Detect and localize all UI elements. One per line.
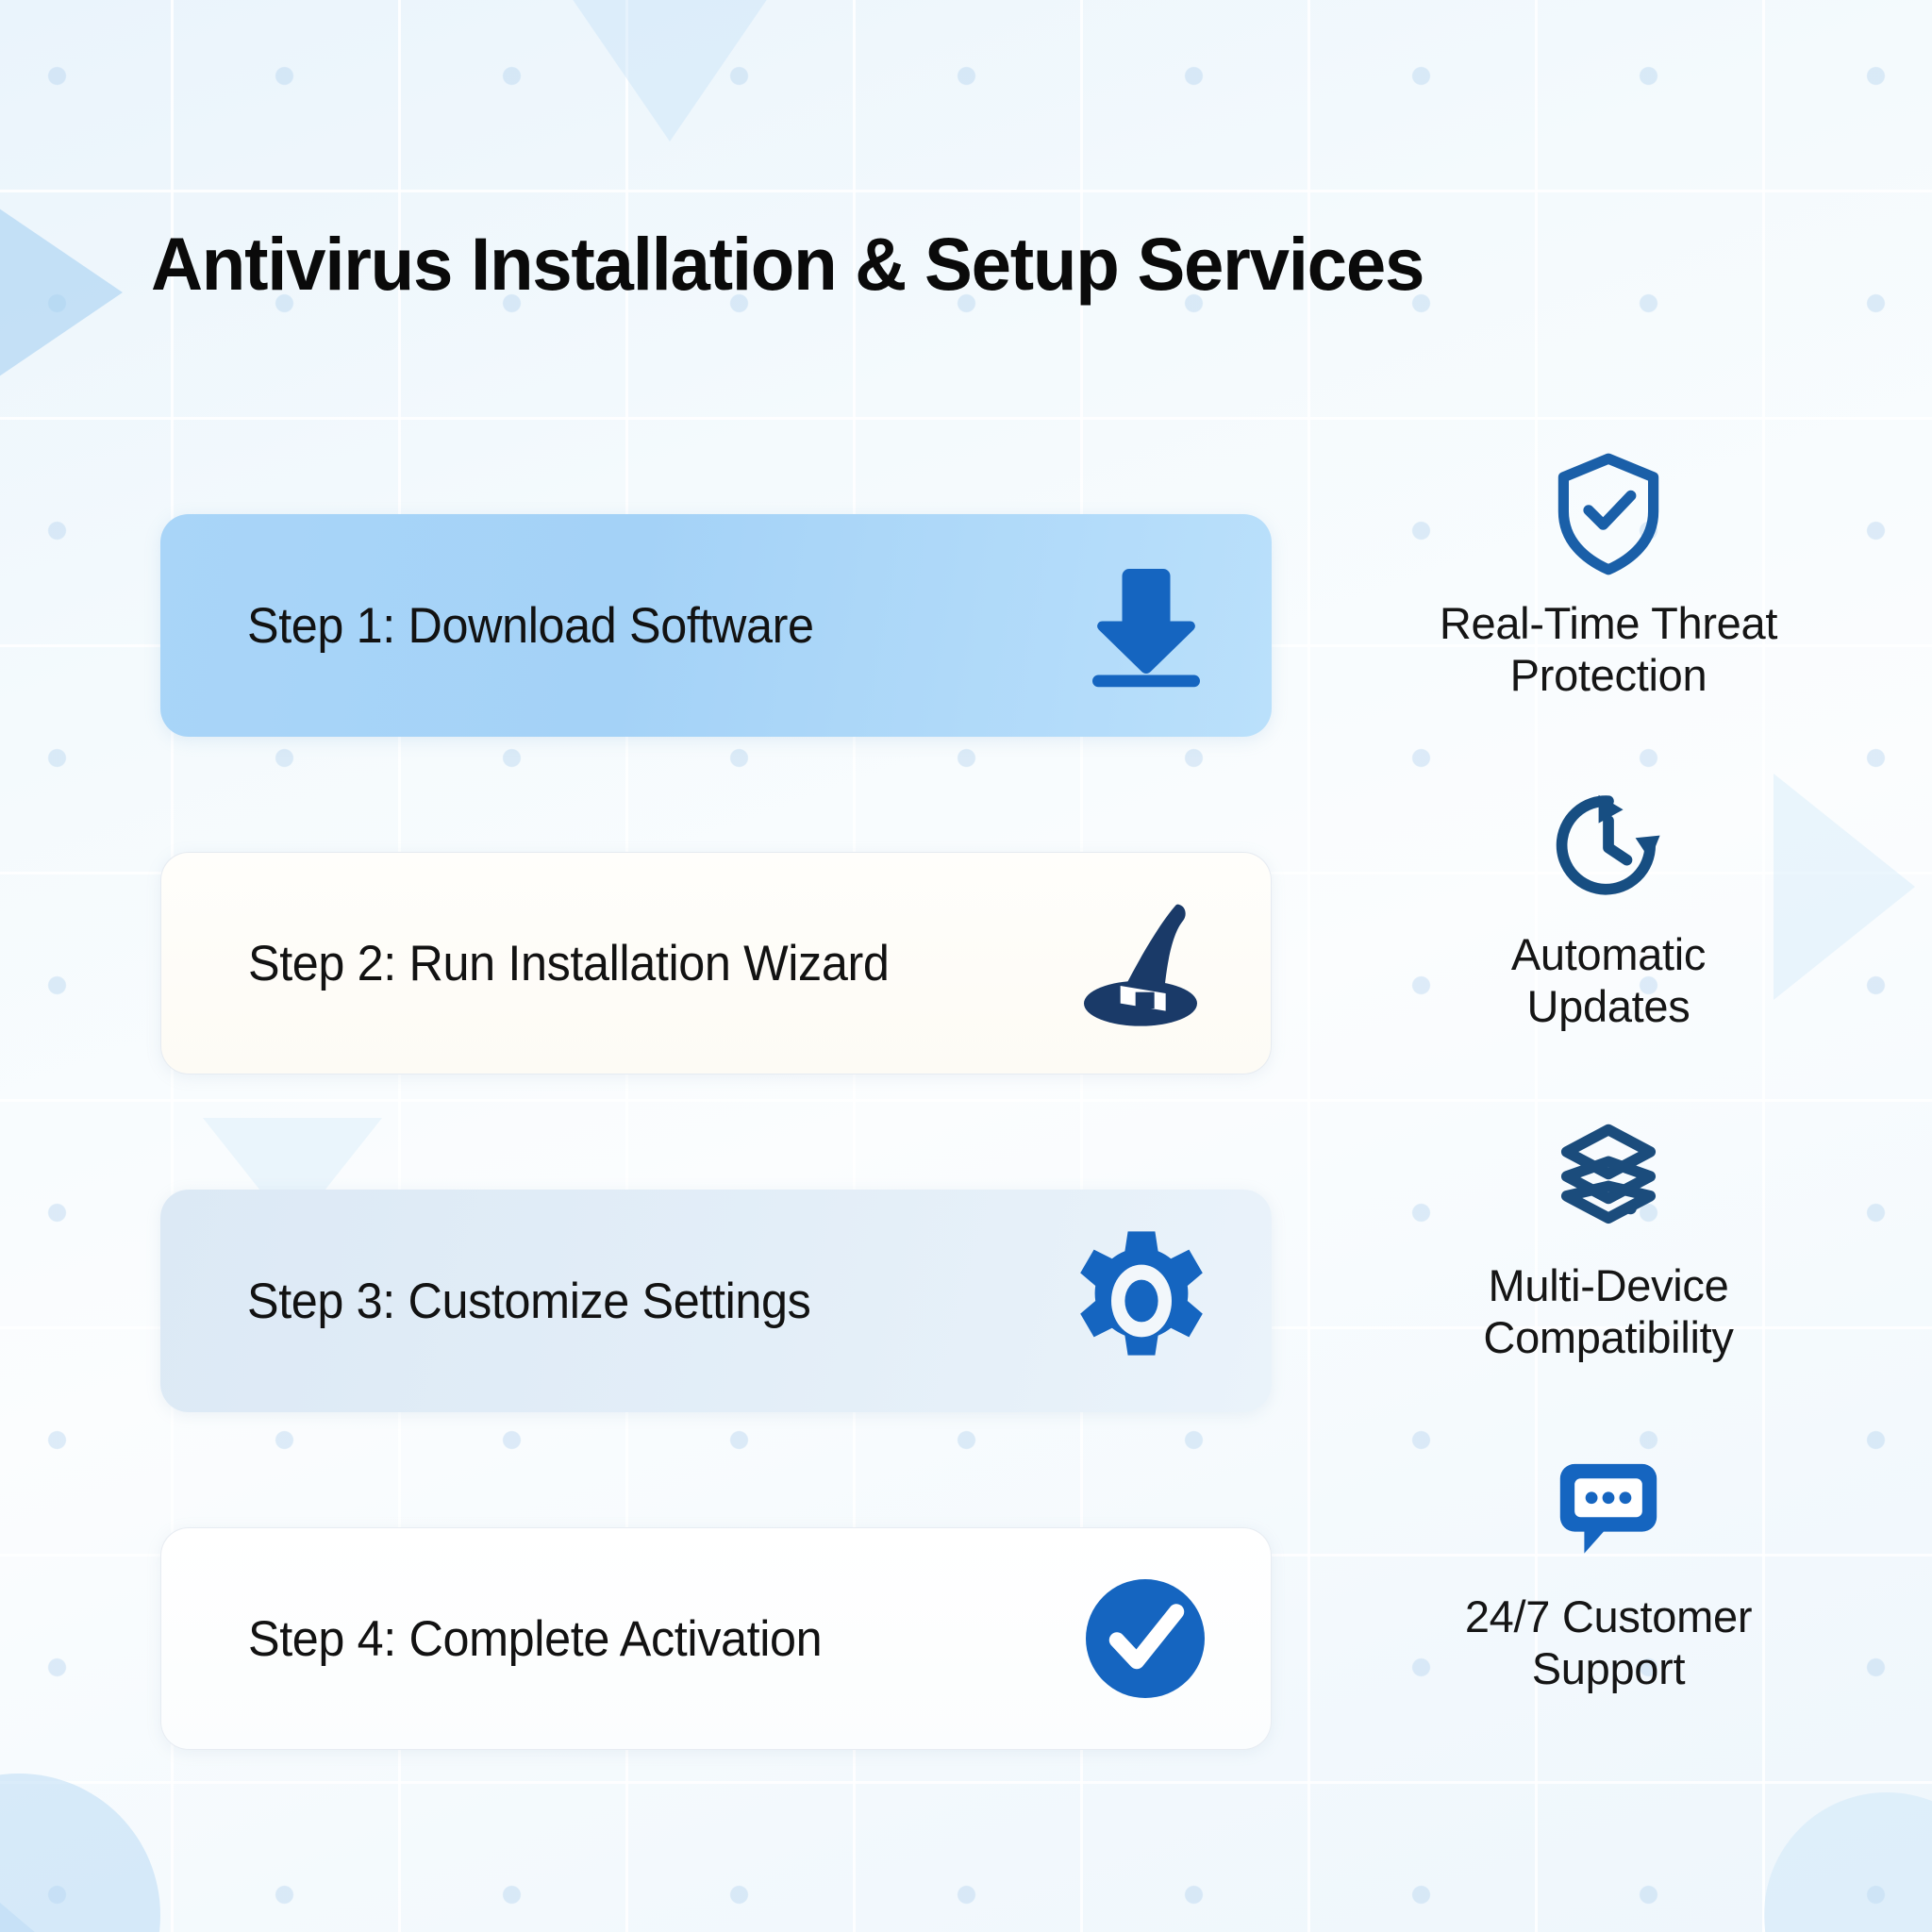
feature-item-real-time-threat-protection: Real-Time Threat Protection [1325,443,1891,701]
step-4-label: Step 4: Complete Activation [248,1610,822,1668]
clock-refresh-icon [1547,774,1670,916]
step-1-label: Step 1: Download Software [247,597,814,655]
decorative-blob [1764,1792,1932,1932]
steps-column: Step 1: Download Software Step 2: Run In… [160,514,1272,1750]
shield-check-icon [1542,443,1674,585]
step-card-3[interactable]: Step 3: Customize Settings [160,1190,1272,1412]
decorative-triangle [0,1783,104,1932]
gear-icon [1066,1225,1217,1376]
feature-item-automatic-updates: Automatic Updates [1325,774,1891,1032]
decorative-triangle [547,0,792,142]
feature-4-line1: 24/7 Customer [1465,1591,1752,1641]
decorative-blob [0,1774,160,1932]
feature-4-line2: Support [1532,1643,1686,1693]
feature-2-line2: Updates [1527,981,1690,1031]
infographic-canvas: Antivirus Installation & Setup Services … [0,0,1932,1932]
step-2-label: Step 2: Run Installation Wizard [248,935,889,992]
feature-1-line2: Protection [1510,650,1707,700]
feature-2-label: Automatic Updates [1511,929,1706,1032]
feature-2-line1: Automatic [1511,929,1706,979]
features-column: Real-Time Threat Protection Automatic Up… [1325,443,1891,1694]
check-circle-icon [1074,1568,1216,1709]
feature-1-label: Real-Time Threat Protection [1440,598,1777,701]
step-3-label: Step 3: Customize Settings [247,1273,810,1330]
step-card-2[interactable]: Step 2: Run Installation Wizard [160,852,1272,1074]
feature-item-multi-device-compatibility: Multi-Device Compatibility [1325,1106,1891,1363]
page-title: Antivirus Installation & Setup Services [151,225,1753,304]
feature-3-line2: Compatibility [1483,1312,1733,1362]
step-card-1[interactable]: Step 1: Download Software [160,514,1272,737]
download-arrow-icon [1075,555,1217,696]
feature-1-line1: Real-Time Threat [1440,598,1777,648]
feature-item-customer-support: 24/7 Customer Support [1325,1437,1891,1694]
feature-4-label: 24/7 Customer Support [1465,1591,1752,1694]
feature-3-line1: Multi-Device [1489,1260,1729,1310]
wizard-hat-icon [1065,888,1216,1039]
layers-stack-icon [1547,1106,1670,1247]
decorative-triangle [0,132,123,453]
feature-3-label: Multi-Device Compatibility [1483,1260,1733,1363]
decorative-triangle [0,0,28,142]
chat-bubble-icon [1548,1437,1669,1578]
step-card-4[interactable]: Step 4: Complete Activation [160,1527,1272,1750]
